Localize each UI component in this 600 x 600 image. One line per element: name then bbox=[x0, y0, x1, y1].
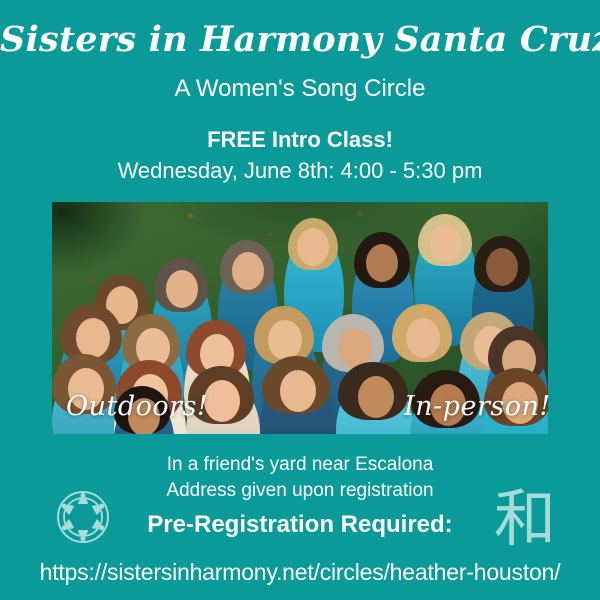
event-datetime: Wednesday, June 8th: 4:00 - 5:30 pm bbox=[0, 158, 600, 183]
location-line-1: In a friend's yard near Escalona bbox=[0, 452, 600, 478]
event-eyebrow: FREE Intro Class! bbox=[0, 128, 600, 152]
photo-overlay-outdoors: Outdoors! bbox=[66, 391, 208, 422]
photo-overlay-inperson: In-person! bbox=[404, 391, 551, 422]
page-title: Sisters in Harmony Santa Cruz bbox=[0, 22, 600, 59]
pre-registration-prompt: Pre-Registration Required: bbox=[0, 512, 600, 538]
flyer-poster: Sisters in Harmony Santa Cruz A Women's … bbox=[0, 0, 600, 600]
page-subtitle: A Women's Song Circle bbox=[0, 76, 600, 102]
registration-url-link[interactable]: https://sistersinharmony.net/circles/hea… bbox=[0, 560, 600, 585]
